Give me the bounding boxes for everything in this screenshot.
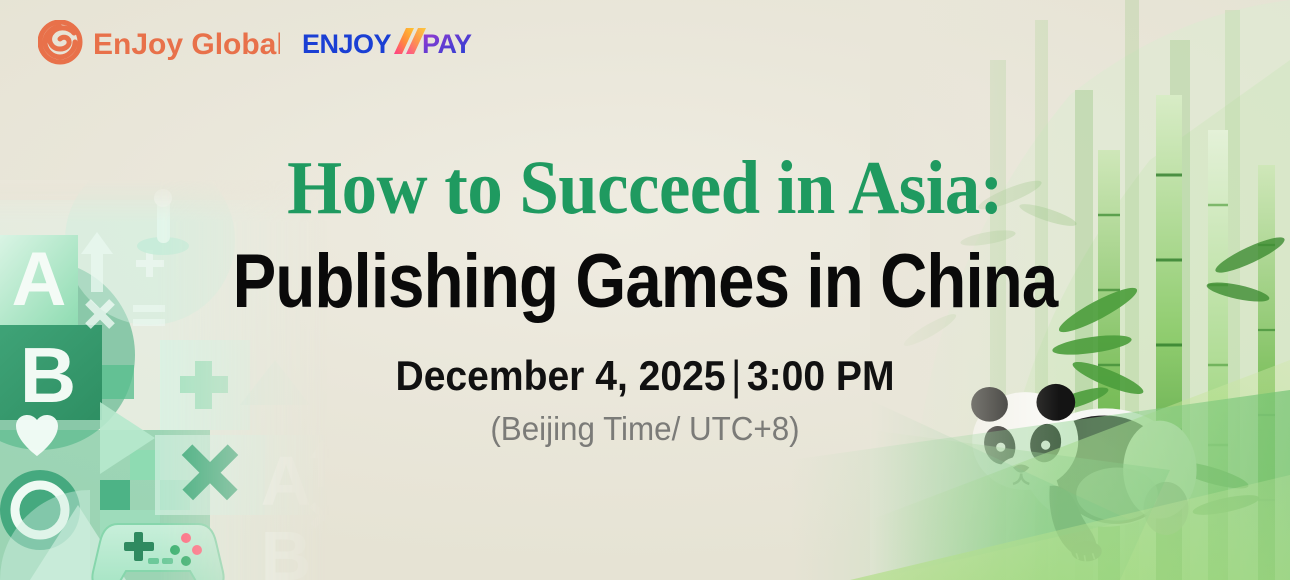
gamepad-icon xyxy=(92,524,223,580)
enjoypay-logo[interactable]: ENJOY PAY xyxy=(302,22,482,64)
swirl-globe-icon xyxy=(40,22,80,62)
letter-b-glyph: B xyxy=(20,331,76,419)
bottom-watercolor-wash xyxy=(790,380,1290,580)
logo-row: EnJoy Global ENJOY xyxy=(38,20,482,66)
enjoy-global-logo-svg: EnJoy Global xyxy=(38,20,280,66)
enjoypay-wordmark-enjoy: ENJOY xyxy=(302,29,392,59)
pixel-block xyxy=(100,365,134,399)
gaming-collage-svg: A B xyxy=(0,180,330,580)
letter-a-glyph-2: A xyxy=(261,442,312,520)
event-date: December 4, 2025 xyxy=(395,352,725,399)
enjoypay-wordmark-pay: PAY xyxy=(422,29,472,59)
pixel-block xyxy=(100,480,130,510)
webinar-banner: A B xyxy=(0,0,1290,580)
datetime-separator: | xyxy=(726,352,747,399)
enjoy-global-logo[interactable]: EnJoy Global xyxy=(38,20,280,66)
enjoypay-logo-svg: ENJOY PAY xyxy=(302,22,482,64)
left-gaming-artwork: A B xyxy=(0,180,330,580)
enjoy-global-wordmark: EnJoy Global xyxy=(93,28,280,61)
letter-b-glyph-2: B xyxy=(261,517,312,580)
